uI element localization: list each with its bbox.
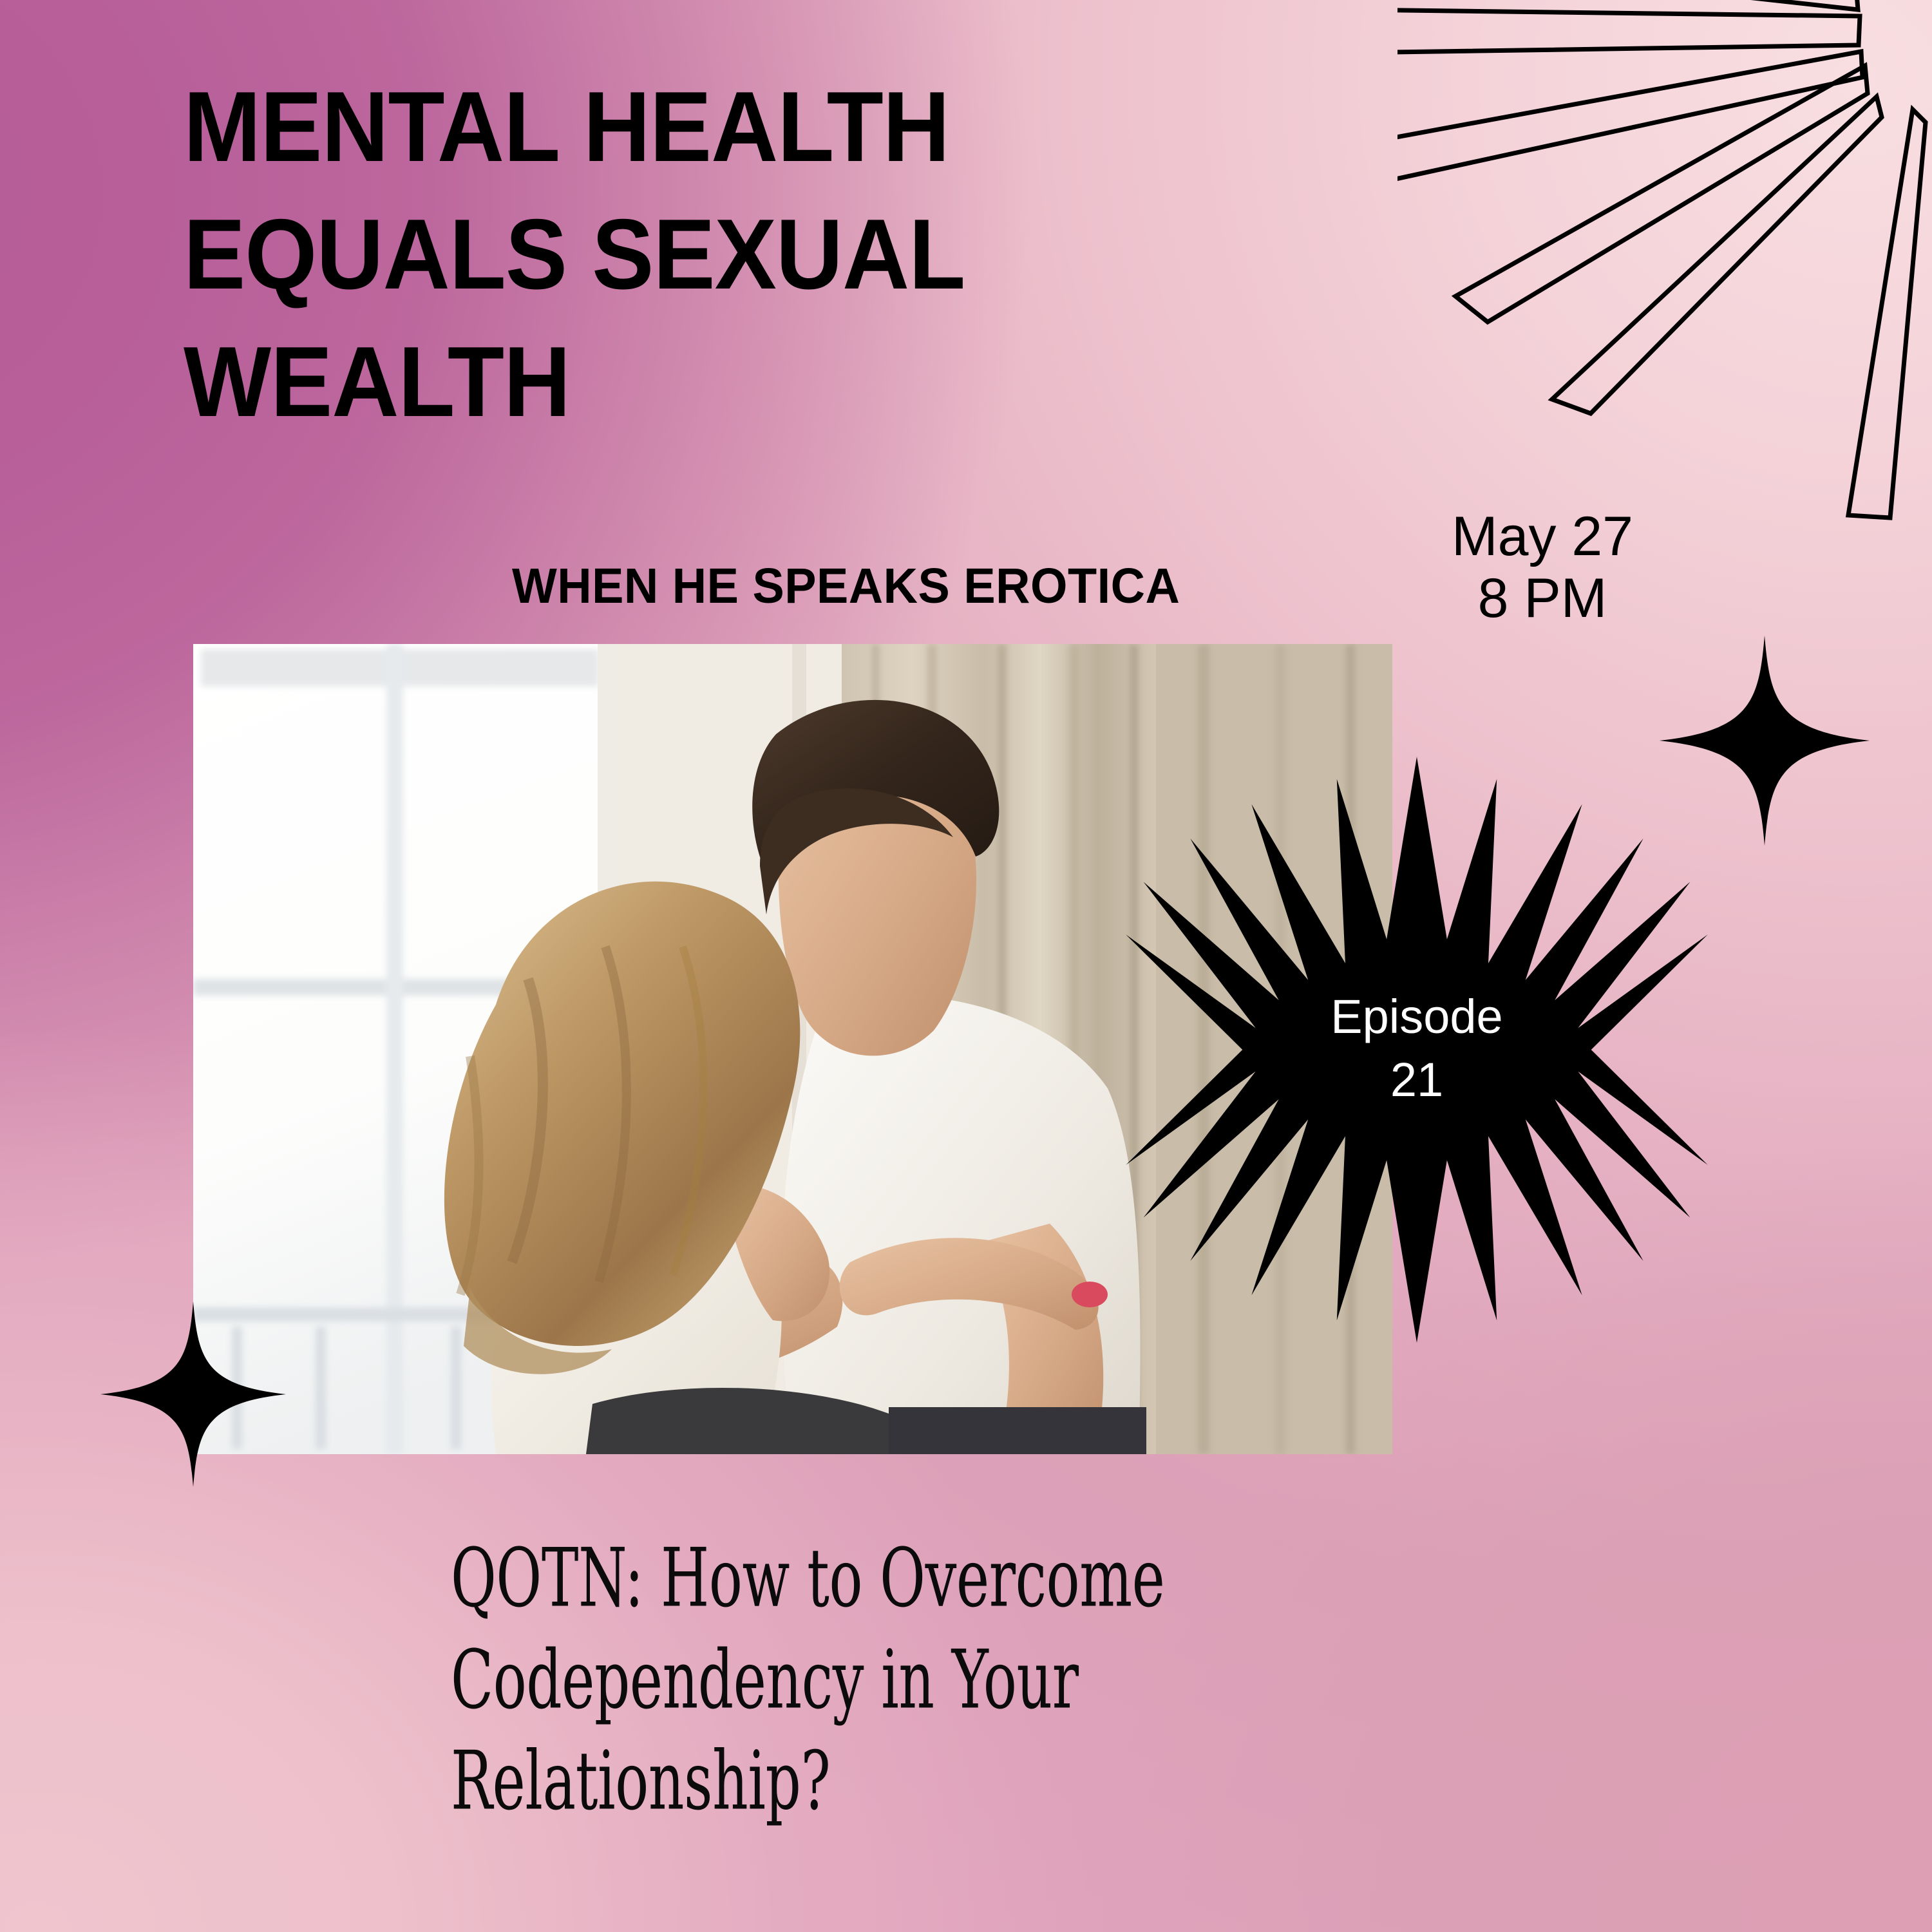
- poster-canvas: Episode 21 MENTAL HEALTH EQUALS SEXUAL W…: [0, 0, 1932, 1932]
- question-line-3: Relationship?: [451, 1723, 1327, 1841]
- question-line-2: Codependency in Your: [451, 1622, 1327, 1739]
- episode-starburst-badge[interactable]: [1124, 744, 1710, 1356]
- show-subtitle: WHEN HE SPEAKS EROTICA: [512, 562, 1180, 611]
- sunburst-rays-icon: [1397, 0, 1932, 567]
- schedule-time: 8 PM: [1372, 567, 1713, 629]
- headline-line-2: EQUALS SEXUAL: [184, 204, 1274, 305]
- headline-line-3: WEALTH: [184, 331, 1274, 433]
- four-point-sparkle-icon: [97, 1298, 290, 1491]
- headline-line-1: MENTAL HEALTH: [184, 76, 1274, 178]
- page-title: MENTAL HEALTH EQUALS SEXUAL WEALTH: [184, 76, 1356, 459]
- schedule-date: May 27: [1372, 506, 1713, 567]
- schedule-block: May 27 8 PM: [1372, 506, 1713, 630]
- question-line-1: QOTN: How to Overcome: [451, 1520, 1327, 1638]
- question-of-the-night: QOTN: How to Overcome Codependency in Yo…: [451, 1520, 1546, 1824]
